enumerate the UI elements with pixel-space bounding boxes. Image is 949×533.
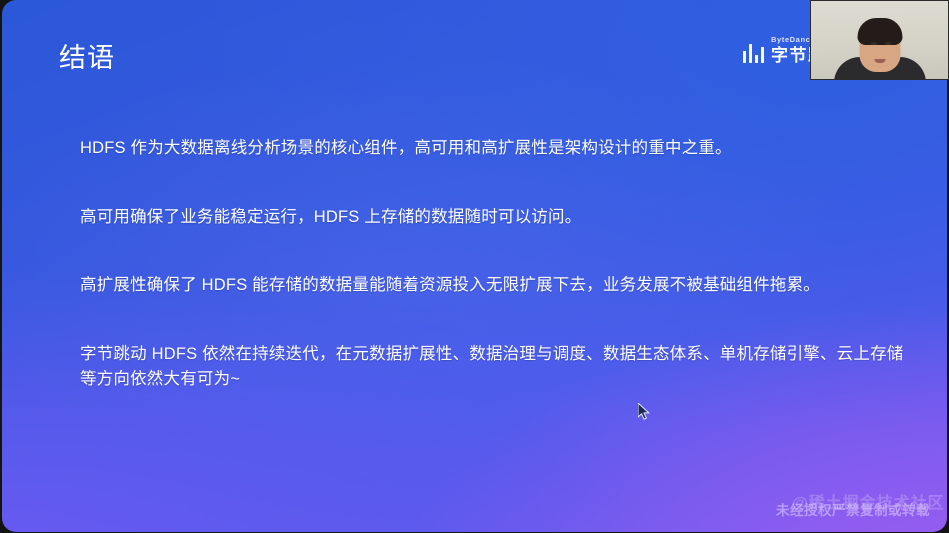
slide-paragraph-4: 字节跳动 HDFS 依然在持续迭代，在元数据扩展性、数据治理与调度、数据生态体系… xyxy=(80,342,920,393)
watermark-copyright: 未经授权严禁复制或转载 xyxy=(776,499,930,519)
presenter-hair xyxy=(857,18,902,45)
presenter-eye-left xyxy=(871,42,877,45)
slide-title: 结语 xyxy=(59,42,115,74)
slide-paragraph-1: HDFS 作为大数据离线分析场景的核心组件，高可用和高扩展性是架构设计的重中之重… xyxy=(80,136,920,162)
screen-capture: 结语 ByteDance 字节跳动 HDFS 作为大数据离线分析场景的核心组件，… xyxy=(0,0,949,533)
presenter-eye-right xyxy=(885,42,891,45)
slide-body: HDFS 作为大数据离线分析场景的核心组件，高可用和高扩展性是架构设计的重中之重… xyxy=(80,136,920,393)
slide-paragraph-3: 高扩展性确保了 HDFS 能存储的数据量能随着资源投入无限扩展下去，业务发展不被… xyxy=(80,273,920,299)
presenter-webcam-overlay[interactable] xyxy=(810,0,949,80)
slide-paragraph-2: 高可用确保了业务能稳定运行，HDFS 上存储的数据随时可以访问。 xyxy=(80,205,920,231)
presentation-slide: 结语 ByteDance 字节跳动 HDFS 作为大数据离线分析场景的核心组件，… xyxy=(2,0,947,532)
webcam-video-frame xyxy=(811,1,948,79)
watermark-site: @稀土掘金技术社区 xyxy=(792,489,945,513)
bytedance-bars-icon xyxy=(743,43,765,64)
